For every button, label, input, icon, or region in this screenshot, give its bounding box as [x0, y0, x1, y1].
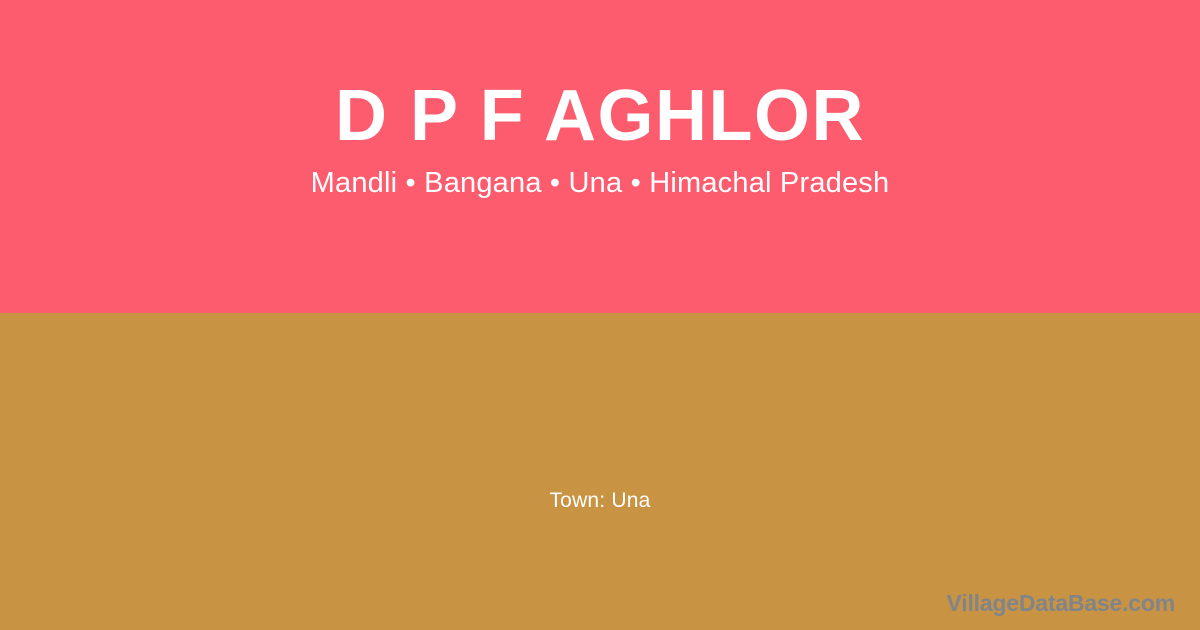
town-label: Town: Una	[0, 488, 1200, 513]
header-content: D P F AGHLOR Mandli • Bangana • Una • Hi…	[0, 0, 1200, 313]
site-watermark: VillageDataBase.com	[947, 590, 1175, 618]
body-band	[0, 313, 1200, 630]
header-band: D P F AGHLOR Mandli • Bangana • Una • Hi…	[0, 0, 1200, 313]
breadcrumb: Mandli • Bangana • Una • Himachal Prades…	[311, 168, 890, 200]
page-title: D P F AGHLOR	[335, 79, 865, 154]
village-info-card: D P F AGHLOR Mandli • Bangana • Una • Hi…	[0, 0, 1200, 630]
